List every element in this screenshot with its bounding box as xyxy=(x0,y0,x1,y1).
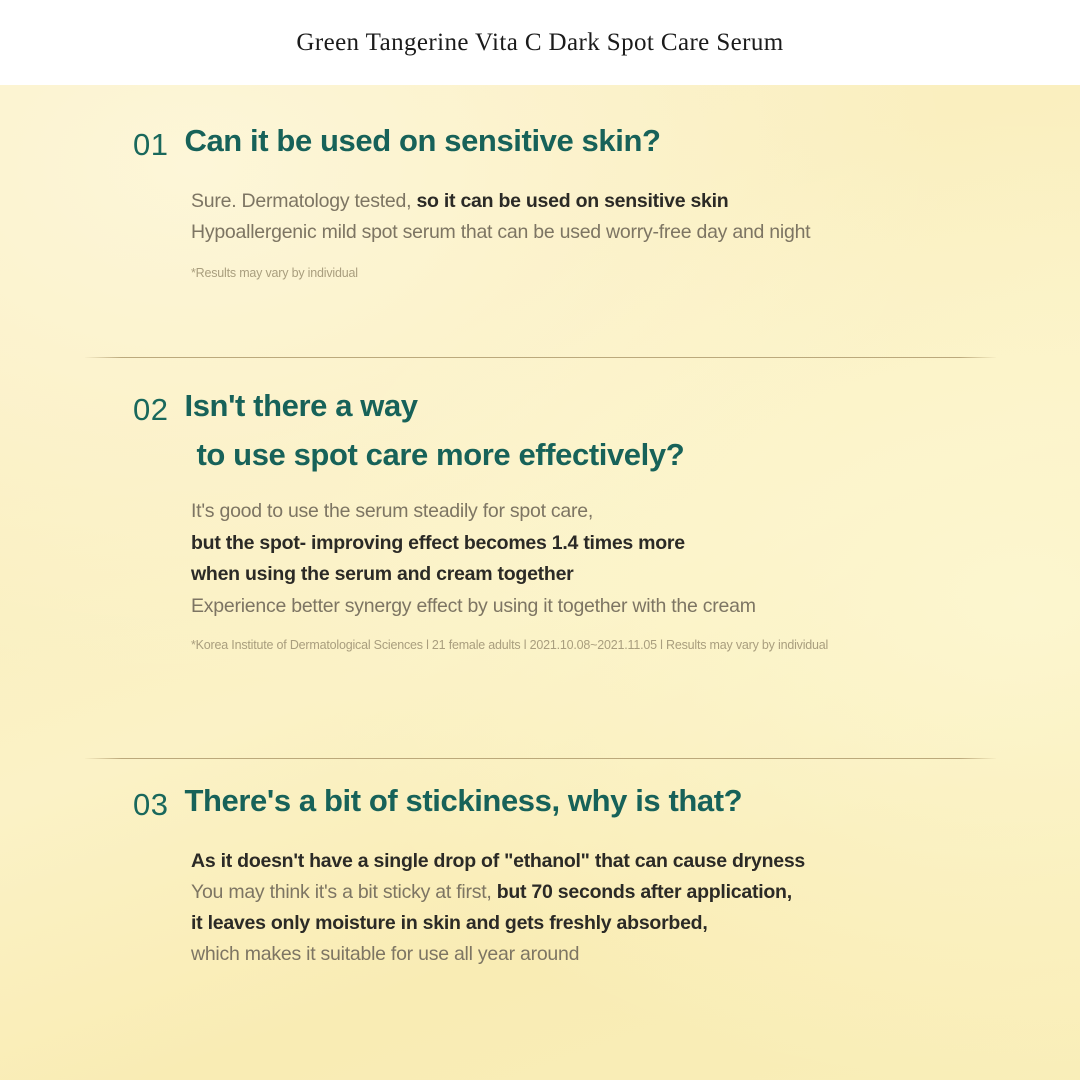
answer-line: You may think it's a bit sticky at first… xyxy=(191,877,1080,908)
answer-line: but the spot- improving effect becomes 1… xyxy=(191,528,1080,560)
product-title-band: Green Tangerine Vita C Dark Spot Care Se… xyxy=(0,0,1080,85)
faq-question-02: 02 Isn't there a way to use spot care mo… xyxy=(0,390,1080,470)
faq-answer-03: As it doesn't have a single drop of "eth… xyxy=(0,846,1080,970)
page-title: Green Tangerine Vita C Dark Spot Care Se… xyxy=(296,29,783,57)
answer-bold-text: but 70 seconds after application, xyxy=(497,881,792,903)
answer-line: Hypoallergenic mild spot serum that can … xyxy=(191,217,1080,248)
answer-line: when using the serum and cream together xyxy=(191,559,1080,591)
faq-question-line2-02: to use spot care more effectively? xyxy=(184,439,684,471)
answer-bold-text: so it can be used on sensitive skin xyxy=(416,190,728,212)
answer-normal-text: It's good to use the serum steadily for … xyxy=(191,500,593,522)
answer-line: As it doesn't have a single drop of "eth… xyxy=(191,846,1080,877)
faq-item-01: 01 Can it be used on sensitive skin? Sur… xyxy=(0,125,1080,282)
faq-question-line1-01: Can it be used on sensitive skin? xyxy=(184,123,660,158)
faq-question-text-02: Isn't there a way to use spot care more … xyxy=(184,390,684,470)
answer-normal-text: Sure. Dermatology tested, xyxy=(191,190,416,212)
answer-line: it leaves only moisture in skin and gets… xyxy=(191,908,1080,939)
faq-answer-01: Sure. Dermatology tested, so it can be u… xyxy=(0,186,1080,248)
answer-line: Sure. Dermatology tested, so it can be u… xyxy=(191,186,1080,217)
faq-page: Green Tangerine Vita C Dark Spot Care Se… xyxy=(0,0,1080,1080)
faq-footnote-01: *Results may vary by individual xyxy=(0,264,1080,282)
answer-normal-text: Hypoallergenic mild spot serum that can … xyxy=(191,221,810,243)
answer-line: It's good to use the serum steadily for … xyxy=(191,496,1080,528)
faq-number-03: 03 xyxy=(133,785,168,820)
faq-answer-02: It's good to use the serum steadily for … xyxy=(0,496,1080,622)
faq-question-text-01: Can it be used on sensitive skin? xyxy=(184,125,660,157)
faq-question-line1-02: Isn't there a way xyxy=(184,388,417,423)
answer-normal-text: Experience better synergy effect by usin… xyxy=(191,595,756,617)
faq-number-01: 01 xyxy=(133,125,168,160)
section-divider-1 xyxy=(85,357,996,358)
section-divider-2 xyxy=(85,758,996,759)
answer-line: which makes it suitable for use all year… xyxy=(191,939,1080,970)
answer-line: Experience better synergy effect by usin… xyxy=(191,591,1080,623)
faq-content-area: 01 Can it be used on sensitive skin? Sur… xyxy=(0,85,1080,1080)
answer-normal-text: which makes it suitable for use all year… xyxy=(191,943,579,965)
faq-question-text-03: There's a bit of stickiness, why is that… xyxy=(184,785,742,817)
faq-question-03: 03 There's a bit of stickiness, why is t… xyxy=(0,785,1080,820)
faq-footnote-02: *Korea Institute of Dermatological Scien… xyxy=(0,636,1080,654)
answer-normal-text: You may think it's a bit sticky at first… xyxy=(191,881,497,903)
faq-question-line1-03: There's a bit of stickiness, why is that… xyxy=(184,783,742,818)
faq-question-01: 01 Can it be used on sensitive skin? xyxy=(0,125,1080,160)
faq-number-02: 02 xyxy=(133,390,168,425)
faq-item-03: 03 There's a bit of stickiness, why is t… xyxy=(0,785,1080,970)
faq-item-02: 02 Isn't there a way to use spot care mo… xyxy=(0,390,1080,654)
